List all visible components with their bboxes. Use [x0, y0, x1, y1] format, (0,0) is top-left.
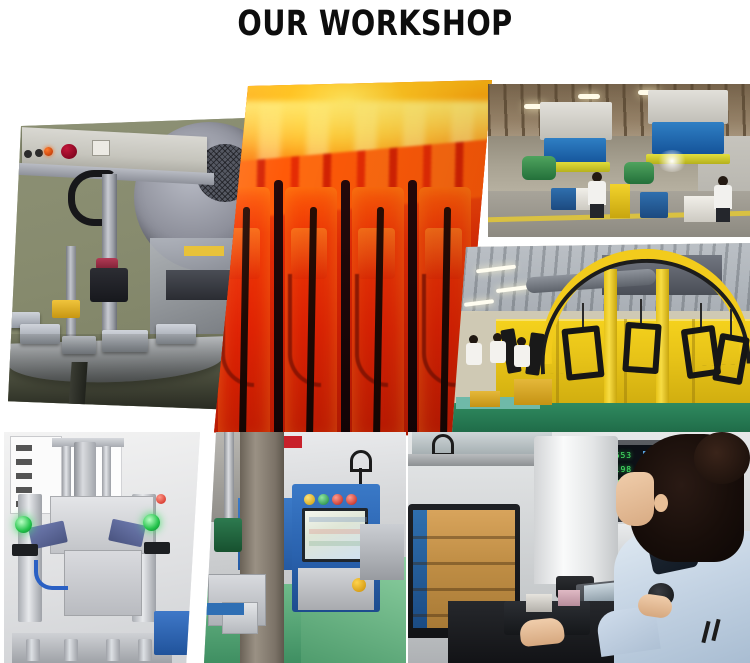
photo-inspection-content: 10653 6.198 1071: [408, 432, 750, 663]
press-worker-2-shirt: [714, 185, 732, 209]
photo-forging-content: [212, 80, 492, 436]
fixture-led-display-left: [12, 544, 38, 556]
press-worker-1-legs: [590, 204, 604, 218]
machining-emergency-stop: [61, 144, 77, 159]
inspection-monitor-sidebar: [413, 510, 427, 628]
photo-press-content: [488, 84, 750, 237]
press-worker-1-shirt: [588, 181, 606, 205]
photo-hmi-alt: Blue control cabinet with HMI touchscree…: [204, 432, 205, 433]
press-machine-2-crown: [648, 90, 728, 124]
press-green-unit-2: [624, 162, 654, 184]
press-blue-bin-2: [551, 188, 577, 210]
inspection-operator-hand-left: [519, 617, 565, 647]
hmi-touchscreen[interactable]: [302, 508, 368, 562]
fixture-red-lamp: [156, 494, 166, 504]
fixture-panel-line-1: [16, 445, 32, 451]
inspection-sample-part-2: [558, 590, 580, 606]
hmi-red-wall-sign: [282, 436, 302, 448]
fixture-panel-line-3: [16, 473, 32, 479]
photo-coating-content: [452, 243, 750, 433]
forging-light-sheen: [212, 80, 492, 436]
hmi-blue-bench-edge: [204, 603, 244, 615]
hmi-button-green: [318, 494, 329, 505]
machining-machine-leg: [68, 362, 87, 410]
coating-crate-1: [514, 379, 552, 405]
fixture-small-cylinder-4: [138, 639, 152, 661]
inspection-operator-ear: [654, 494, 668, 512]
machining-gauge: [92, 140, 110, 156]
coating-hanger-line-4: [730, 309, 732, 335]
inspection-hanging-hook-icon: [432, 434, 454, 456]
coating-worker-2-shirt: [490, 341, 506, 363]
press-green-unit-1: [522, 156, 556, 180]
machining-indicator-lamp: [44, 147, 53, 156]
inspection-measuring-column: [534, 436, 618, 584]
photo-powder-coating-conveyor-line[interactable]: Powder coating booth with overhead conve…: [452, 243, 750, 433]
coating-black-frame-2: [622, 322, 661, 374]
machining-dark-module: [166, 270, 236, 300]
fixture-blue-parts-bin: [154, 611, 200, 655]
machining-black-button-1: [24, 150, 32, 158]
coating-hanger-line-1: [582, 303, 584, 329]
press-ceiling-lamp-1: [578, 94, 600, 99]
machining-guide-post: [66, 246, 76, 338]
photo-machining-alt: Rotary index table assembly and drilling…: [6, 118, 7, 119]
fixture-left-tower: [18, 494, 42, 622]
hmi-screen-band-1: [309, 517, 367, 522]
photo-stamping-press-line[interactable]: Stamping press line with blue presses, y…: [488, 84, 750, 237]
photo-hot-forging-glowing-parts[interactable]: Red hot forged steel parts glowing orang…: [212, 80, 492, 436]
photo-pneumatic-test-fixture[interactable]: Automated pneumatic test fixture with gr…: [4, 432, 200, 663]
photo-rotary-index-assembly-station[interactable]: Rotary index table assembly and drilling…: [6, 118, 246, 410]
hmi-screen-band-3: [309, 541, 367, 546]
hmi-servo-motor: [214, 518, 242, 552]
photo-blue-control-cabinet-hmi[interactable]: Blue control cabinet with HMI touchscree…: [204, 432, 406, 663]
photo-forging-alt: Red hot forged steel parts glowing orang…: [212, 80, 213, 81]
photo-vision-measuring-inspection[interactable]: 10653 6.198 1071: [408, 432, 750, 663]
fixture-small-cylinder-3: [106, 639, 120, 661]
fixture-led-display-right: [144, 542, 170, 554]
inspection-monitor-row-2: [413, 562, 515, 565]
press-blue-bin-1: [640, 192, 668, 218]
hmi-button-red-1: [332, 494, 343, 505]
fixture-panel-line-4: [16, 487, 32, 493]
coating-worker-3-shirt: [514, 345, 530, 367]
hmi-vertical-shaft: [224, 432, 234, 522]
press-work-light-flare: [656, 150, 688, 172]
machining-floor-shadow: [6, 334, 246, 410]
press-yellow-control-box: [610, 184, 630, 218]
coating-worker-1-shirt: [466, 343, 482, 365]
machining-black-button-2: [35, 149, 43, 157]
photo-fixture-content: [4, 432, 200, 663]
hmi-screen-band-2: [309, 529, 367, 534]
machining-tool-head: [90, 268, 128, 302]
coating-hanger-line-3: [700, 303, 702, 329]
page-title: OUR WORKSHOP: [68, 4, 683, 44]
fixture-lower-body: [64, 550, 142, 616]
coating-hanger-line-2: [640, 299, 642, 325]
photo-hmi-content: [204, 432, 406, 663]
inspection-operator-face: [616, 472, 654, 526]
fixture-panel-line-2: [16, 459, 32, 465]
fixture-green-lamp-left: [15, 516, 32, 533]
hmi-emergency-stop: [352, 578, 366, 592]
hmi-button-row: [304, 492, 366, 503]
hmi-button-yellow: [304, 494, 315, 505]
fixture-small-cylinder-2: [64, 639, 78, 661]
machining-yellow-rail: [184, 246, 224, 256]
hmi-button-red-2: [346, 494, 357, 505]
inspection-monitor-row-3: [413, 588, 515, 591]
hmi-right-station: [360, 524, 404, 580]
inspection-sample-part-1: [526, 594, 552, 612]
fixture-small-cylinder-1: [26, 639, 40, 661]
coating-crate-2: [470, 391, 500, 407]
press-machine-1-crown: [540, 102, 612, 140]
coating-black-frame-1: [561, 325, 604, 381]
inspection-operator-hair-bun: [694, 432, 750, 484]
fixture-green-lamp-right: [143, 514, 160, 531]
press-worker-2-legs: [716, 208, 730, 222]
press-white-crate-1: [684, 196, 718, 222]
inspection-monitor-row-1: [413, 536, 515, 539]
press-machine-2-body: [652, 122, 724, 154]
machining-yellow-box: [52, 300, 80, 318]
photo-machining-content: [6, 118, 246, 410]
workshop-gallery-page: OUR WORKSHOP: [0, 0, 750, 663]
